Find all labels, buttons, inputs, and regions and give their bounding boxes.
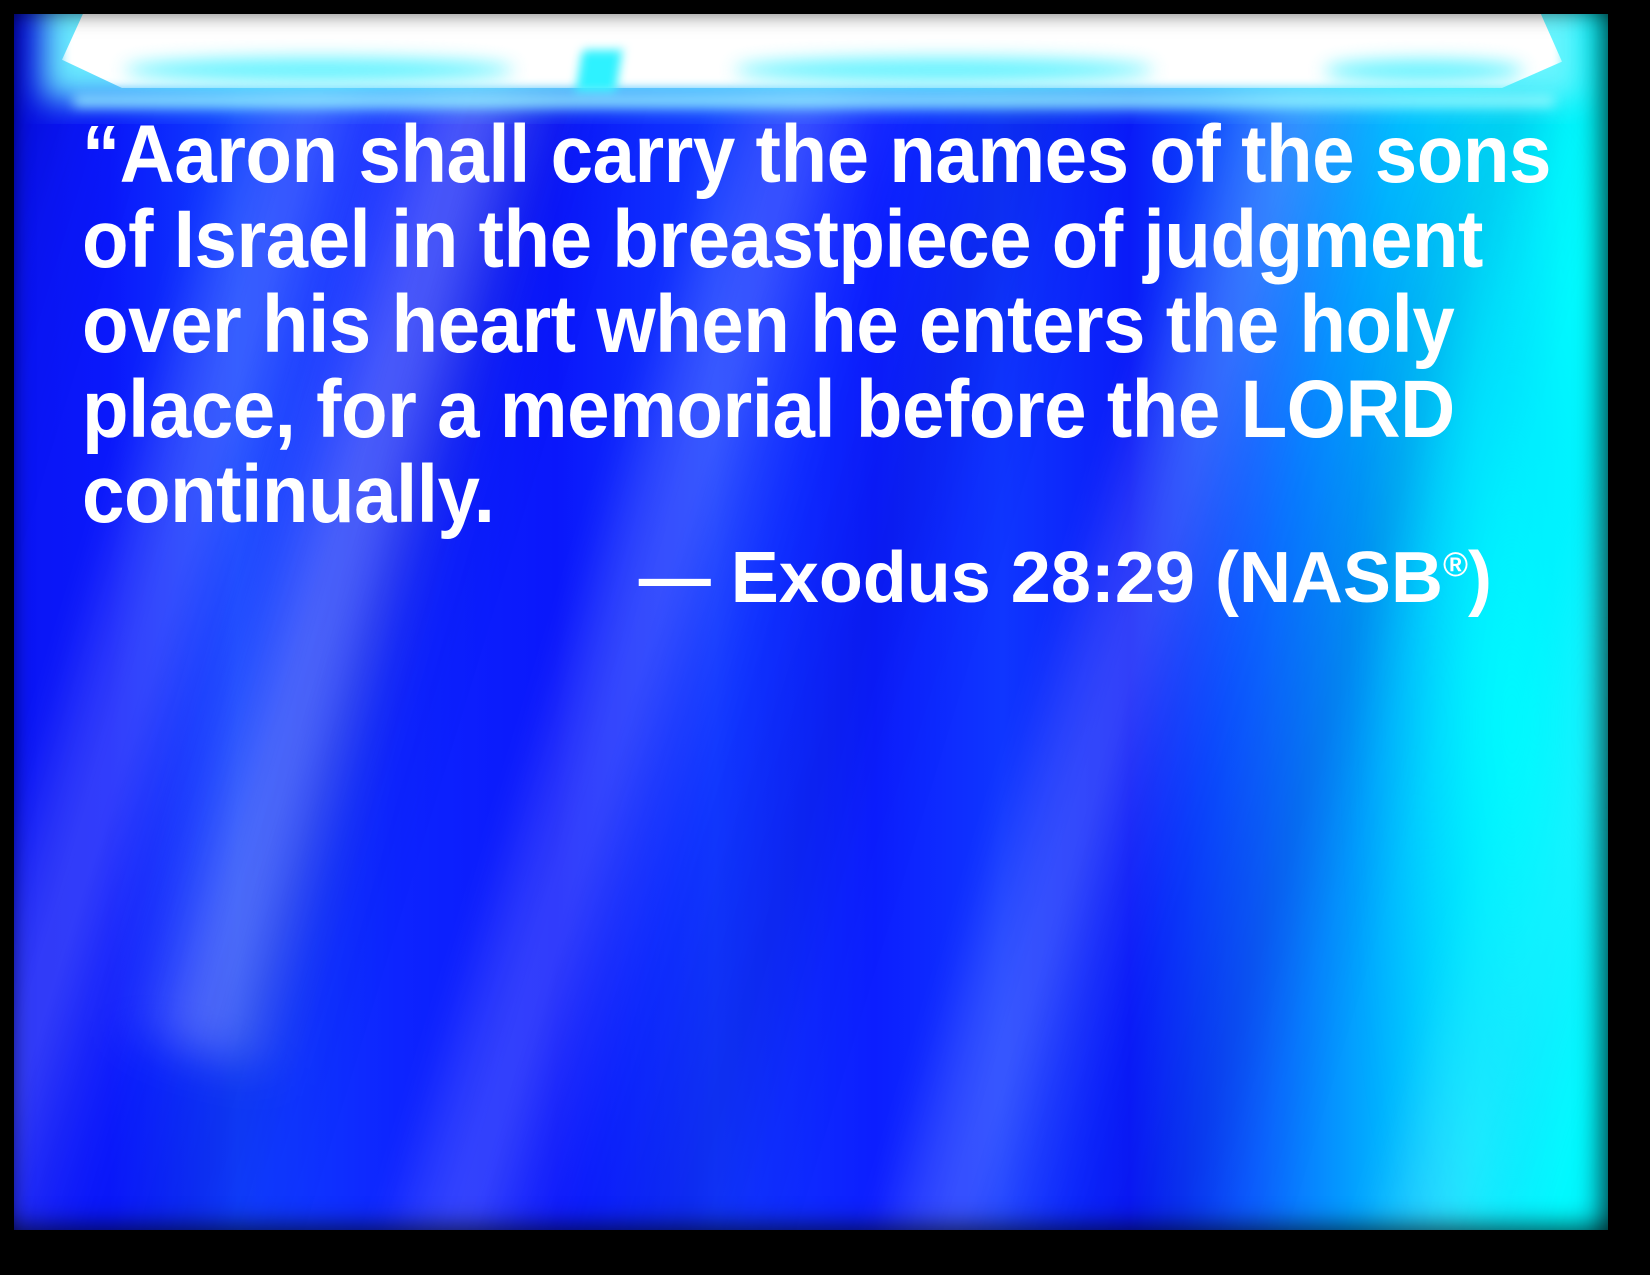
frame-border-right (1608, 0, 1650, 1275)
top-band-notch (576, 50, 623, 92)
top-band-cyan-streak-left (124, 58, 514, 82)
scripture-quote: “Aaron shall carry the names of the sons… (82, 112, 1482, 537)
frame-border-left (0, 0, 12, 1275)
frame-border-top (0, 0, 1650, 14)
quote-line-2: of Israel in the breastpiece of judgment (82, 197, 1384, 282)
attribution-prefix: — Exodus 28:29 (NASB (639, 538, 1443, 618)
attribution-suffix: ) (1468, 538, 1492, 618)
registered-trademark-icon: ® (1443, 546, 1468, 584)
top-band-underglow (74, 96, 1554, 106)
scripture-slide: “Aaron shall carry the names of the sons… (0, 0, 1650, 1275)
top-band-cyan-streak-center (734, 58, 1154, 82)
top-light-band (14, 14, 1608, 124)
quote-line-1: “Aaron shall carry the names of the sons (82, 112, 1384, 197)
quote-line-3: over his heart when he enters the holy (82, 282, 1384, 367)
quote-line-4: place, for a memorial before the LORD (82, 367, 1384, 452)
top-band-cyan-streak-right (1324, 60, 1524, 82)
frame-border-bottom (0, 1230, 1650, 1275)
scripture-attribution: — Exodus 28:29 (NASB®) (82, 538, 1492, 618)
quote-line-5: continually. (82, 452, 1384, 537)
